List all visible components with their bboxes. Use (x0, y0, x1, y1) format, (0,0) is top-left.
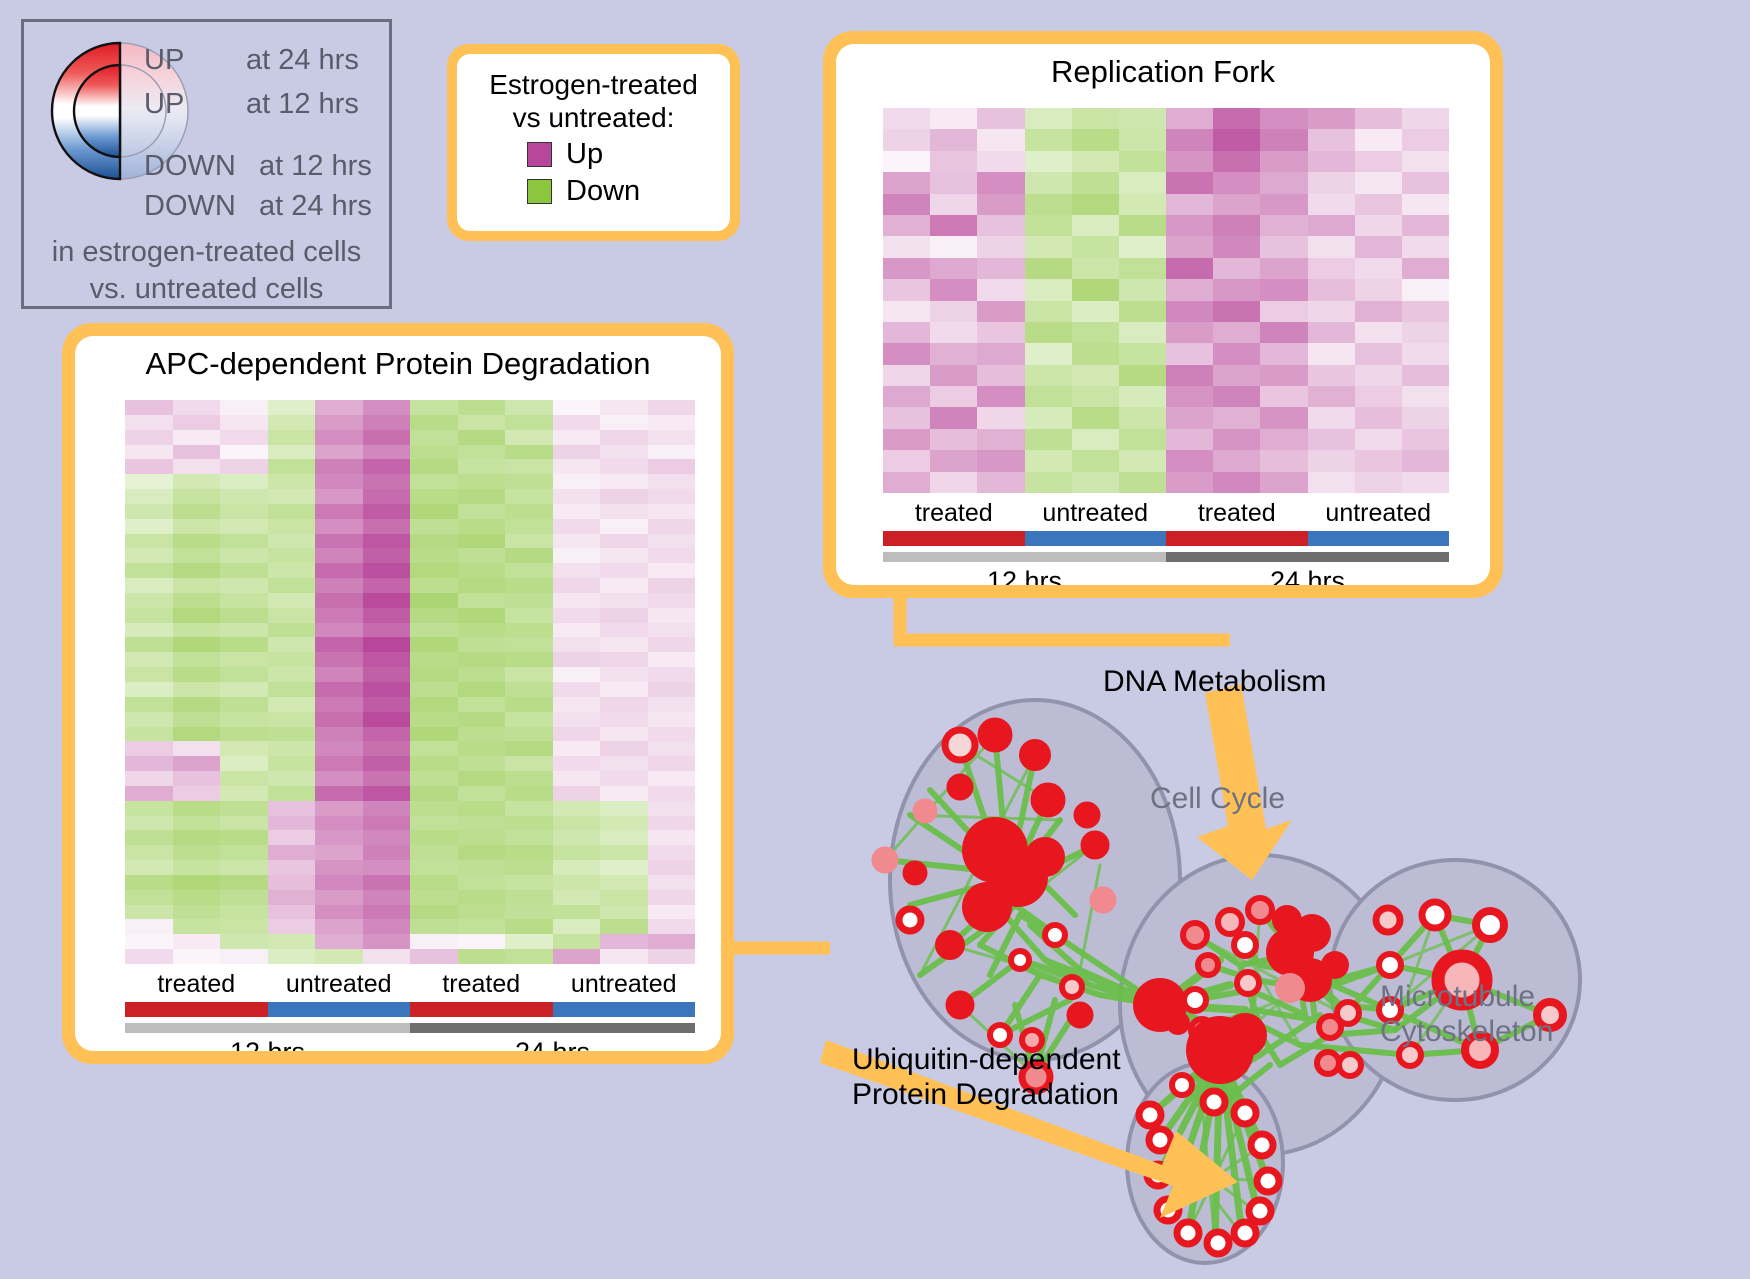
heatmap-cell (505, 875, 553, 890)
heatmap-cell (648, 652, 696, 667)
network-node (1339, 1054, 1361, 1076)
heatmap-cell (125, 578, 173, 593)
heatmap-cell (363, 430, 411, 445)
heatmap-cell (883, 151, 930, 172)
heatmap-cell (1308, 194, 1355, 215)
heatmap-cell (505, 786, 553, 801)
heatmap-cell (173, 474, 221, 489)
heatmap-cell (1402, 301, 1449, 322)
heatmap-cell (268, 445, 316, 460)
heatmap-cell (1402, 365, 1449, 386)
heatmap-cell (173, 771, 221, 786)
network-node (948, 993, 972, 1017)
heatmap-cell (1025, 236, 1072, 257)
time-label: 12 hrs (883, 566, 1166, 585)
heatmap-cell (648, 519, 696, 534)
heatmap-cell (458, 919, 506, 934)
heatmap-cell (220, 652, 268, 667)
time-bar-24h (410, 1023, 695, 1033)
heatmap-cell (458, 949, 506, 964)
heatmap-cell (125, 415, 173, 430)
heatmap-cell (220, 786, 268, 801)
heatmap-cell (1213, 301, 1260, 322)
heatmap-cell (458, 534, 506, 549)
heatmap-cell (1166, 450, 1213, 471)
heatmap-cell (1119, 343, 1166, 364)
heatmap-cell (883, 301, 930, 322)
untreated-bar-12h (1025, 531, 1167, 546)
heatmap-cell (410, 578, 458, 593)
heatmap-cell (977, 343, 1024, 364)
heatmap-cell (1355, 429, 1402, 450)
heatmap-cell (930, 258, 977, 279)
heatmap-cell (173, 845, 221, 860)
heatmap-cell (648, 637, 696, 652)
heatmap-cell (315, 474, 363, 489)
heatmap-cell (268, 875, 316, 890)
heatmap-cell (173, 905, 221, 920)
heatmap-cell (410, 830, 458, 845)
time-label: 24 hrs (1166, 566, 1449, 585)
heatmap-cell (1166, 365, 1213, 386)
key-row-1-label: UP (144, 88, 184, 121)
heatmap-cell (125, 682, 173, 697)
heatmap-cell (1025, 279, 1072, 300)
heatmap-cell (553, 489, 601, 504)
heatmap-cell (1308, 365, 1355, 386)
heatmap-cell (363, 623, 411, 638)
key-row-2-label: DOWN (144, 150, 236, 183)
heatmap-cell (173, 949, 221, 964)
heatmap-cell (125, 608, 173, 623)
heatmap-cell (553, 593, 601, 608)
network-node (1249, 1200, 1271, 1222)
heatmap-cell (410, 712, 458, 727)
heatmap-cell (410, 934, 458, 949)
heatmap-cell (1308, 343, 1355, 364)
heatmap-cell (220, 934, 268, 949)
heatmap-cell (363, 489, 411, 504)
heatmap-cell (600, 949, 648, 964)
sample-color-bar-apc (125, 1002, 695, 1017)
heatmap-cell (1355, 194, 1402, 215)
heatmap-cell (648, 786, 696, 801)
heatmap-cell (1260, 472, 1307, 493)
heatmap-cell (1025, 151, 1072, 172)
heatmap-cell (505, 860, 553, 875)
heatmap-cell (173, 459, 221, 474)
heatmap-cell (648, 741, 696, 756)
heatmap-cell (458, 875, 506, 890)
heatmap-cell (1402, 258, 1449, 279)
heatmap-cell (1260, 258, 1307, 279)
treated-bar-24h (1166, 531, 1308, 546)
heatmap-cell (1402, 472, 1449, 493)
heatmap-cell (1025, 472, 1072, 493)
network-node (1237, 972, 1259, 994)
sample-label: treated (1166, 499, 1308, 528)
heatmap-cell (173, 682, 221, 697)
heatmap-cell (553, 949, 601, 964)
heatmap-cell (125, 816, 173, 831)
heatmap-cell (553, 697, 601, 712)
heatmap-cell (363, 637, 411, 652)
heatmap-cell (410, 652, 458, 667)
heatmap-cell (268, 712, 316, 727)
network-node (1275, 973, 1305, 1003)
heatmap-cell (600, 578, 648, 593)
heatmap-cell (1119, 322, 1166, 343)
heatmap-cell (1166, 129, 1213, 150)
heatmap-cell (648, 445, 696, 460)
sample-label: untreated (1308, 499, 1450, 528)
heatmap-cell (410, 667, 458, 682)
heatmap-cell (1355, 151, 1402, 172)
heatmap-cell (648, 934, 696, 949)
heatmap-cell (1072, 258, 1119, 279)
heatmap-cell (648, 830, 696, 845)
heatmap-cell (977, 407, 1024, 428)
heatmap-cell (505, 459, 553, 474)
heatmap-cell (930, 365, 977, 386)
heatmap-cell (600, 727, 648, 742)
heatmap-cell (1355, 108, 1402, 129)
legend-title-line1: Estrogen-treated (467, 68, 720, 101)
network-node (1025, 837, 1065, 877)
heatmap-cell (883, 172, 930, 193)
heatmap-cell (1355, 172, 1402, 193)
heatmap-cell (173, 875, 221, 890)
heatmap-cell (977, 472, 1024, 493)
heatmap-cell (268, 548, 316, 563)
heatmap-cell (458, 459, 506, 474)
heatmap-cell (1308, 236, 1355, 257)
heatmap-cell (553, 445, 601, 460)
heatmap-cell (505, 415, 553, 430)
heatmap-cell (1213, 194, 1260, 215)
heatmap-cell (1308, 279, 1355, 300)
heatmap-cell (410, 593, 458, 608)
heatmap-cell (553, 623, 601, 638)
network-node (1203, 1091, 1225, 1113)
heatmap-cell (458, 578, 506, 593)
heatmap-cell (1355, 365, 1402, 386)
key-row-1-time: at 12 hrs (246, 88, 359, 121)
heatmap-cell (1355, 343, 1402, 364)
heatmap-cell (363, 697, 411, 712)
heatmap-cell (173, 816, 221, 831)
network-node (1248, 898, 1272, 922)
heatmap-cell (505, 608, 553, 623)
heatmap-cell (1072, 365, 1119, 386)
heatmap-cell (410, 623, 458, 638)
heatmap-cell (1119, 386, 1166, 407)
heatmap-cell (315, 786, 363, 801)
heatmap-cell (1166, 322, 1213, 343)
heatmap-cell (410, 534, 458, 549)
heatmap-cell (648, 756, 696, 771)
heatmap-cell (1355, 472, 1402, 493)
heatmap-cell (268, 727, 316, 742)
heatmap-cell (458, 623, 506, 638)
heatmap-cell (1355, 279, 1402, 300)
heatmap-cell (173, 623, 221, 638)
heatmap-cell (458, 474, 506, 489)
heatmap-cell (1025, 365, 1072, 386)
heatmap-cell (930, 279, 977, 300)
key-row-0-label: UP (144, 44, 184, 77)
heatmap-cell (648, 727, 696, 742)
treated-bar-12h (125, 1002, 268, 1017)
heatmap-cell (125, 756, 173, 771)
heatmap-cell (458, 727, 506, 742)
heatmap-cell (458, 756, 506, 771)
network-node (899, 909, 921, 931)
time-color-bar-replication-fork (883, 552, 1449, 562)
heatmap-cell (363, 949, 411, 964)
heatmap-cell (458, 816, 506, 831)
heatmap-cell (600, 474, 648, 489)
heatmap-cell (1119, 215, 1166, 236)
heatmap-cell (930, 386, 977, 407)
heatmap-cell (268, 563, 316, 578)
heatmap-cell (220, 534, 268, 549)
heatmap-cell (1308, 215, 1355, 236)
heatmap-cell (125, 741, 173, 756)
heatmap-cell (1072, 429, 1119, 450)
heatmap-cell (363, 771, 411, 786)
network-node (1321, 951, 1349, 979)
heatmap-cell (1119, 108, 1166, 129)
legend-title-line2: vs untreated: (467, 101, 720, 134)
cluster-label-ubiquitin: Ubiquitin-dependent Protein Degradation (852, 1043, 1121, 1112)
heatmap-cell (600, 816, 648, 831)
heatmap-cell (1119, 472, 1166, 493)
heatmap-cell (930, 343, 977, 364)
heatmap-cell (977, 258, 1024, 279)
heatmap-cell (1213, 236, 1260, 257)
heatmap-cell (220, 474, 268, 489)
heatmap-cell (883, 472, 930, 493)
key-row-3-time: at 24 hrs (259, 190, 372, 223)
heatmap-cell (173, 519, 221, 534)
heatmap-cell (977, 365, 1024, 386)
heatmap-cell (930, 194, 977, 215)
heatmap-cell (410, 727, 458, 742)
heatmap-cell (268, 801, 316, 816)
down-swatch-icon (527, 179, 552, 204)
figure-canvas: UP at 24 hrs UP at 12 hrs DOWN at 12 hrs… (0, 0, 1750, 1279)
heatmap-cell (1355, 215, 1402, 236)
network-node (1177, 1222, 1199, 1244)
heatmap-cell (363, 578, 411, 593)
network-node (1422, 902, 1448, 928)
heatmap-cell (1072, 108, 1119, 129)
heatmap-cell (1025, 108, 1072, 129)
heatmap-cell (505, 489, 553, 504)
heatmap-cell (315, 400, 363, 415)
network-node (1022, 742, 1048, 768)
heatmap-cell (883, 258, 930, 279)
heatmap-cell (553, 741, 601, 756)
heatmap-cell (1308, 258, 1355, 279)
heatmap-cell (930, 129, 977, 150)
heatmap-cell (648, 578, 696, 593)
heatmap-cell (505, 830, 553, 845)
heatmap-cell (363, 727, 411, 742)
heatmap-cell (1213, 172, 1260, 193)
heatmap-cell (268, 845, 316, 860)
heatmap-cell (930, 236, 977, 257)
heatmap-cell (363, 415, 411, 430)
heatmap-cell (1072, 172, 1119, 193)
heatmap-cell (1025, 258, 1072, 279)
network-node (1251, 1134, 1273, 1156)
heatmap-cell (505, 652, 553, 667)
color-key-caption-line1: in estrogen-treated cells (24, 234, 389, 271)
heatmap-cell (1166, 279, 1213, 300)
heatmap-cell (1308, 322, 1355, 343)
heatmap-cell (268, 890, 316, 905)
heatmap-cell (505, 771, 553, 786)
heatmap-cell (125, 430, 173, 445)
heatmap-cell (648, 697, 696, 712)
heatmap-cell (648, 682, 696, 697)
heatmap-cell (268, 415, 316, 430)
heatmap-cell (363, 860, 411, 875)
heatmap-cell (1308, 450, 1355, 471)
heatmap-cell (1119, 151, 1166, 172)
heatmap-cell (553, 845, 601, 860)
network-node (1076, 804, 1098, 826)
heatmap-cell (363, 905, 411, 920)
network-node (945, 730, 975, 760)
heatmap-cell (648, 816, 696, 831)
heatmap-cell (268, 652, 316, 667)
heatmap-cell (363, 830, 411, 845)
heatmap-cell (220, 445, 268, 460)
heatmap-cell (458, 786, 506, 801)
key-row-3-label: DOWN (144, 190, 236, 223)
heatmap-cell (1166, 429, 1213, 450)
heatmap-cell (410, 949, 458, 964)
heatmap-cell (648, 400, 696, 415)
network-node (1257, 1170, 1279, 1192)
heatmap-cell (458, 682, 506, 697)
heatmap-cell (410, 430, 458, 445)
heatmap-cell (220, 949, 268, 964)
heatmap-cell (220, 400, 268, 415)
heatmap-cell (220, 801, 268, 816)
heatmap-cell (600, 637, 648, 652)
heatmap-cell (315, 934, 363, 949)
heatmap-apc-degradation (125, 400, 695, 964)
heatmap-cell (1402, 450, 1449, 471)
heatmap-cell (220, 519, 268, 534)
heatmap-cell (458, 652, 506, 667)
heatmap-cell (1119, 450, 1166, 471)
heatmap-cell (220, 727, 268, 742)
heatmap-cell (1260, 172, 1307, 193)
heatmap-cell (1025, 172, 1072, 193)
network-node (1184, 989, 1206, 1011)
heatmap-cell (1166, 407, 1213, 428)
heatmap-cell (220, 756, 268, 771)
heatmap-cell (1213, 450, 1260, 471)
heatmap-cell (1355, 386, 1402, 407)
time-label: 12 hrs (125, 1037, 410, 1051)
heatmap-cell (410, 504, 458, 519)
sample-color-bar-replication-fork (883, 531, 1449, 546)
heatmap-cell (410, 445, 458, 460)
heatmap-cell (600, 801, 648, 816)
heatmap-cell (505, 801, 553, 816)
heatmap-cell (930, 429, 977, 450)
heatmap-cell (648, 593, 696, 608)
heatmap-cell (553, 682, 601, 697)
heatmap-cell (648, 563, 696, 578)
heatmap-cell (173, 578, 221, 593)
heatmap-cell (553, 860, 601, 875)
heatmap-cell (553, 400, 601, 415)
heatmap-cell (220, 593, 268, 608)
network-node (1034, 786, 1062, 814)
heatmap-cell (363, 786, 411, 801)
heatmap-cell (125, 534, 173, 549)
heatmap-cell (553, 519, 601, 534)
heatmap-cell (268, 623, 316, 638)
network-node (990, 1025, 1010, 1045)
heatmap-cell (220, 637, 268, 652)
heatmap-cell (648, 771, 696, 786)
heatmap-cell (1260, 450, 1307, 471)
heatmap-cell (648, 548, 696, 563)
legend-title: Estrogen-treated vs untreated: (467, 68, 720, 134)
heatmap-cell (410, 845, 458, 860)
heatmap-cell (1166, 386, 1213, 407)
heatmap-cell (1260, 108, 1307, 129)
panel-replication-fork-title: Replication Fork (836, 54, 1490, 90)
heatmap-cell (553, 801, 601, 816)
heatmap-cell (648, 890, 696, 905)
heatmap-cell (1072, 343, 1119, 364)
heatmap-cell (1355, 407, 1402, 428)
heatmap-cell (553, 667, 601, 682)
heatmap-cell (268, 919, 316, 934)
heatmap-cell (363, 608, 411, 623)
heatmap-cell (173, 608, 221, 623)
heatmap-cell (363, 712, 411, 727)
network-node (1157, 1199, 1179, 1221)
heatmap-cell (553, 430, 601, 445)
sample-label: untreated (268, 970, 411, 999)
heatmap-cell (315, 519, 363, 534)
network-node (1317, 1052, 1339, 1074)
heatmap-cell (315, 608, 363, 623)
heatmap-cell (1072, 301, 1119, 322)
heatmap-cell (648, 504, 696, 519)
legend-entry-down: Down (527, 175, 720, 208)
heatmap-cell (125, 489, 173, 504)
color-key-box: UP at 24 hrs UP at 12 hrs DOWN at 12 hrs… (21, 19, 392, 309)
heatmap-cell (410, 400, 458, 415)
heatmap-cell (1260, 407, 1307, 428)
heatmap-cell (268, 697, 316, 712)
heatmap-cell (173, 563, 221, 578)
heatmap-cell (220, 415, 268, 430)
network-node (1198, 1165, 1218, 1185)
heatmap-cell (268, 637, 316, 652)
